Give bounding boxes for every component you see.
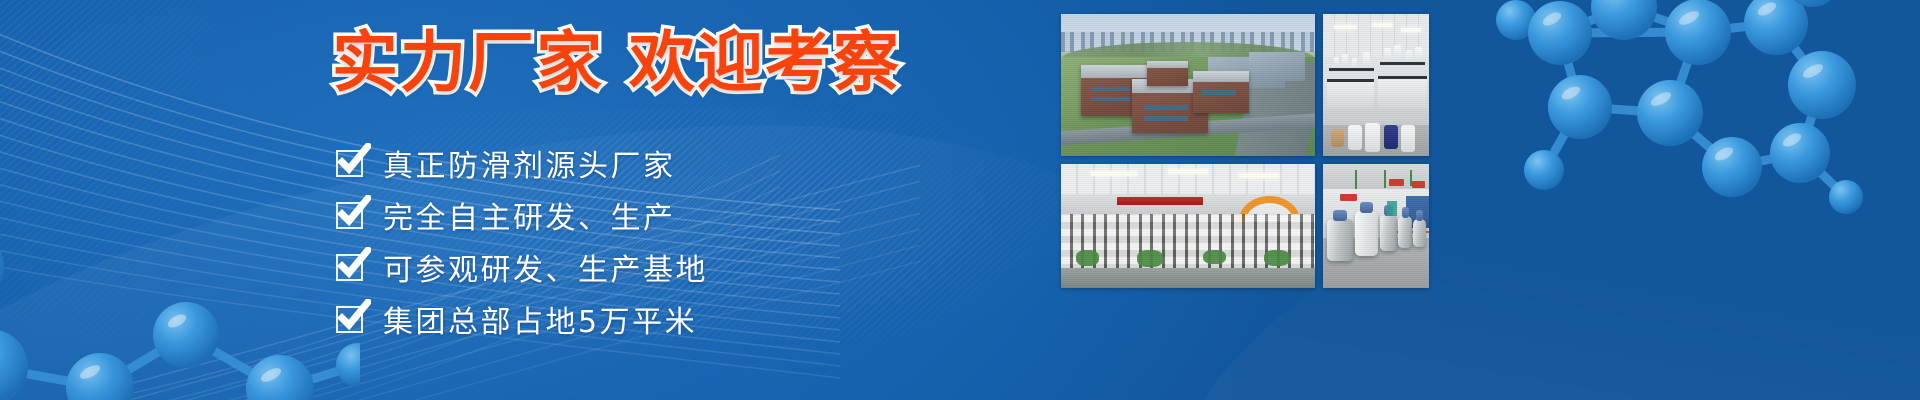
molecule-left-graphic	[0, 175, 360, 400]
checkbox-check-icon	[336, 252, 366, 282]
list-item: 集团总部占地5万平米	[336, 296, 708, 341]
page-title: 实力厂家 欢迎考察	[332, 30, 1032, 96]
list-item-label: 可参观研发、生产基地	[383, 245, 708, 289]
feature-list: 真正防滑剂源头厂家 完全自主研发、生产 可参观研发、生产基地	[336, 140, 708, 341]
list-item: 可参观研发、生产基地	[336, 244, 708, 289]
laboratory-photo	[1323, 14, 1429, 156]
list-item-label: 集团总部占地5万平米	[383, 297, 697, 341]
team-group-photo	[1061, 164, 1315, 288]
checkbox-check-icon	[336, 200, 366, 230]
list-item: 完全自主研发、生产	[336, 192, 708, 237]
checkbox-check-icon	[336, 304, 366, 334]
list-item: 真正防滑剂源头厂家	[336, 140, 708, 185]
photo-gallery	[1061, 14, 1429, 386]
production-facility-photo	[1323, 164, 1429, 288]
list-item-label: 真正防滑剂源头厂家	[383, 141, 676, 185]
list-item-label: 完全自主研发、生产	[383, 193, 676, 237]
aerial-campus-photo	[1061, 14, 1315, 156]
molecule-right-graphic	[1460, 0, 1920, 275]
checkbox-check-icon	[336, 148, 366, 178]
company-strength-banner: 实力厂家 欢迎考察 真正防滑剂源头厂家 完全自主研发、生产	[0, 0, 1920, 400]
